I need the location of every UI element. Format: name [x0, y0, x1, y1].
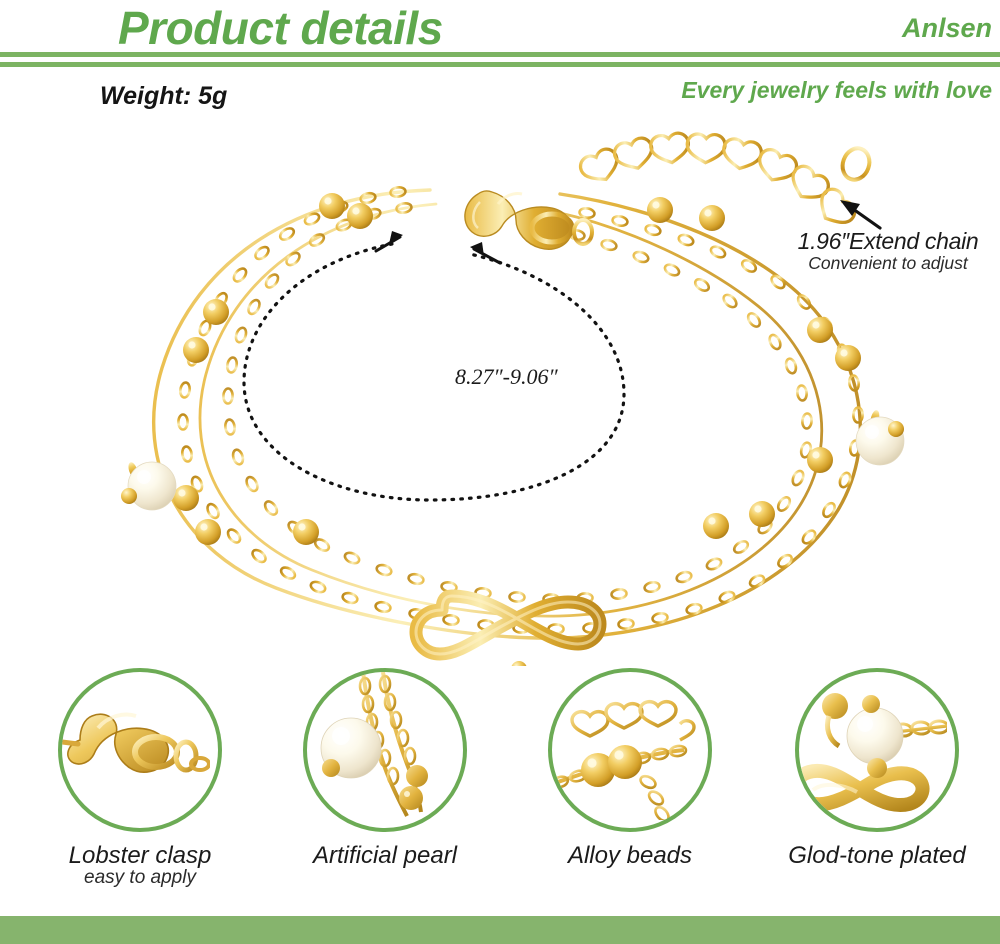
feature-title: Alloy beads [505, 842, 755, 870]
feature-title: Lobster clasp [15, 842, 265, 870]
artificial-pearl-icon [303, 668, 467, 832]
feature-title: Artificial pearl [260, 842, 510, 870]
footer-bar [0, 916, 1000, 944]
feature-caption: Alloy beads [505, 842, 755, 867]
feature-caption: Glod-tone plated [752, 842, 1000, 867]
lobster-clasp-icon [58, 668, 222, 832]
product-detail-page: Product details Anlsen Every jewelry fee… [0, 0, 1000, 944]
feature-caption: Lobster clasp easy to apply [15, 842, 265, 889]
lobster-clasp-main [465, 191, 592, 249]
header-divider-top [0, 52, 1000, 57]
size-indicator [244, 231, 624, 500]
page-title: Product details [118, 1, 443, 55]
brand-tagline: Every jewelry feels with love [681, 77, 992, 104]
extend-chain-note: Convenient to adjust [776, 253, 1000, 274]
page-header: Product details Anlsen [0, 0, 1000, 72]
size-range-label: 8.27″-9.06″ [455, 364, 558, 390]
feature-caption: Artificial pearl [260, 842, 510, 867]
feature-item[interactable]: Glod-tone plated [752, 666, 1000, 916]
gold-tone-plated-icon [795, 668, 959, 832]
feature-item[interactable]: Artificial pearl [260, 666, 510, 916]
feature-gallery: Lobster clasp easy to apply [0, 666, 1000, 916]
alloy-beads-icon [548, 668, 712, 832]
weight-label: Weight: 5g [100, 82, 227, 111]
extend-chain-arrow [840, 200, 880, 228]
feature-item[interactable]: Lobster clasp easy to apply [15, 666, 265, 916]
feature-title: Glod-tone plated [752, 842, 1000, 870]
extend-chain-callout: 1.96″Extend chain Convenient to adjust [776, 228, 1000, 274]
header-divider-bottom [0, 62, 1000, 67]
extend-chain-length: 1.96″Extend chain [776, 228, 1000, 255]
product-image [0, 118, 1000, 666]
pearl-drop-left [121, 461, 176, 510]
brand-name: Anlsen [902, 13, 992, 44]
feature-subtitle: easy to apply [15, 867, 265, 889]
feature-item[interactable]: Alloy beads [505, 666, 755, 916]
